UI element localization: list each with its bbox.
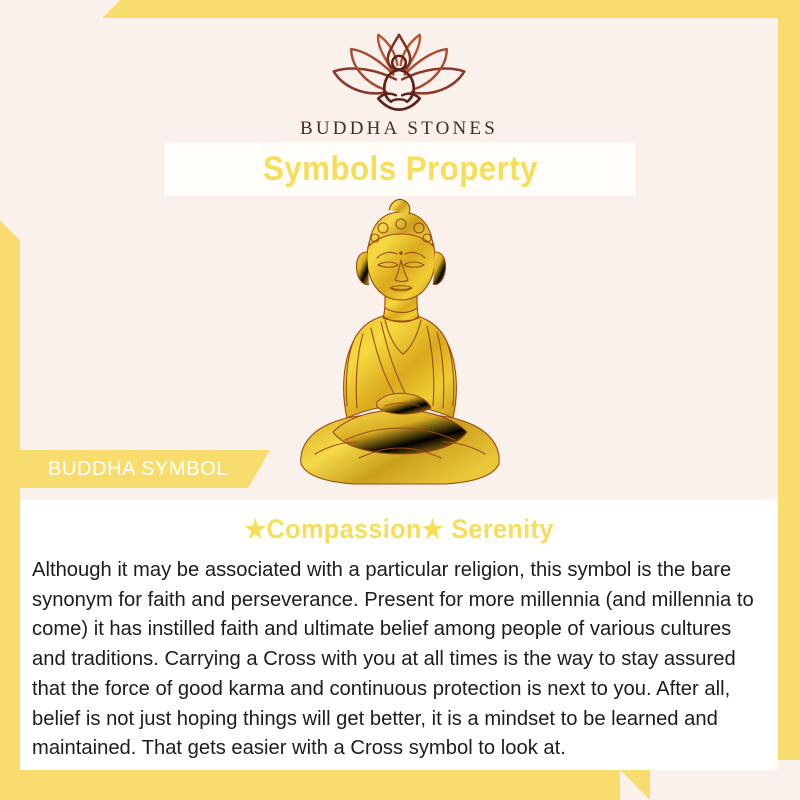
headline-word-compassion: Compassion <box>267 514 422 544</box>
lotus-yoga-figure-icon <box>319 30 479 116</box>
brand-name: BUDDHA STONES <box>300 118 498 140</box>
content-panel: ★Compassion★ Serenity Although it may be… <box>20 500 778 770</box>
content-headline: ★Compassion★ Serenity <box>43 500 756 545</box>
star-icon-right: ★ <box>422 516 444 542</box>
headline-word-serenity: Serenity <box>451 514 553 544</box>
star-icon-left: ★ <box>244 516 266 542</box>
buddha-symbol-tag-label: BUDDHA SYMBOL <box>48 458 228 481</box>
promo-page: BUDDHA STONES Symbols Property <box>0 0 800 800</box>
decorative-bottom-bar <box>0 770 620 800</box>
title-banner: Symbols Property <box>165 143 635 195</box>
decorative-top-bar <box>120 0 800 18</box>
buddha-symbol-tag: BUDDHA SYMBOL <box>20 450 270 488</box>
golden-seated-buddha-statue <box>285 196 515 491</box>
content-paragraph: Although it may be associated with a par… <box>32 555 755 763</box>
page-title: Symbols Property <box>262 150 537 189</box>
brand-header: BUDDHA STONES <box>20 18 778 140</box>
